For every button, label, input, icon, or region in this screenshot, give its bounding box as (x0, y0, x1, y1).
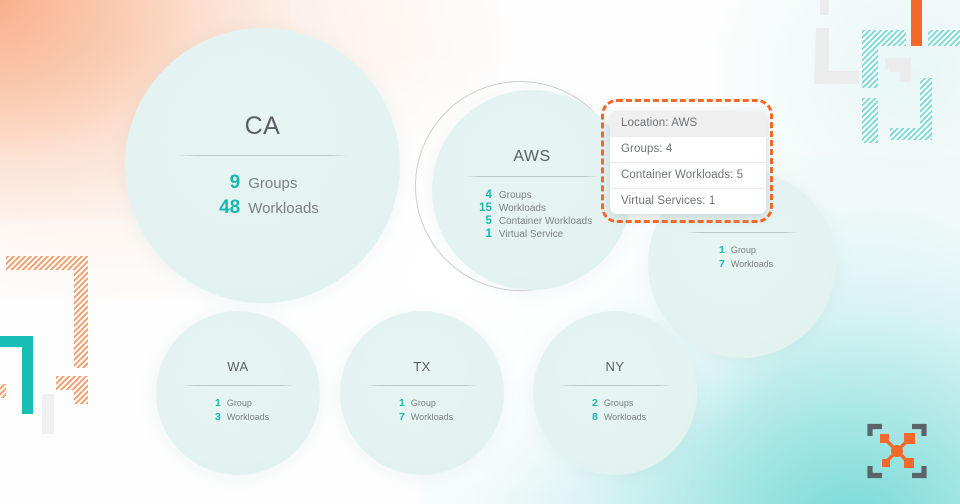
bubble-ny-divider (559, 385, 671, 386)
stat-value: 7 (391, 411, 405, 423)
stat-label: Groups (604, 398, 634, 408)
stat-value: 9 (206, 172, 240, 194)
stat-label: Workloads (411, 412, 453, 422)
bubble-tx-divider (366, 385, 478, 386)
bubble-tx-stats: 1 Group 7 Workloads (391, 397, 453, 423)
stat-label: Container Workloads (499, 216, 592, 227)
decor-bottom-left-grey-bracket (8, 388, 78, 446)
stat-label: Workloads (499, 203, 546, 214)
stat-value: 3 (207, 411, 221, 423)
bubble-aws-title: AWS (513, 148, 550, 166)
stat-label: Groups (499, 190, 532, 201)
stat-row: 5 Container Workloads (472, 215, 592, 227)
bubble-tx[interactable]: TX 1 Group 7 Workloads (340, 311, 504, 475)
stat-row: 8 Workloads (584, 411, 646, 423)
canvas: CA 9 Groups 48 Workloads 1 Group (0, 0, 960, 504)
network-frame-logo (866, 420, 928, 482)
stat-row: 1 Group (207, 397, 269, 409)
stat-row: 1 Group (391, 397, 453, 409)
stat-value: 4 (472, 189, 492, 201)
stat-row: 4 Groups (472, 189, 592, 201)
decor-bottom-left-brackets (0, 248, 110, 416)
stat-value: 48 (206, 197, 240, 219)
stat-value: 2 (584, 397, 598, 409)
stat-value: 1 (711, 244, 725, 256)
stat-row: 1 Virtual Service (472, 228, 592, 240)
stat-value: 1 (472, 228, 492, 240)
tooltip-row-groups: Groups: 4 (610, 137, 766, 163)
bubble-ny-title: NY (605, 359, 624, 374)
stat-row: 15 Workloads (472, 202, 592, 214)
tooltip-card: Location: AWS Groups: 4 Container Worklo… (610, 111, 766, 214)
bubble-wa[interactable]: WA 1 Group 3 Workloads (156, 311, 320, 475)
bubble-aws-stats: 4 Groups 15 Workloads 5 Container Worklo… (472, 189, 592, 240)
stat-label: Virtual Service (499, 229, 563, 240)
stat-label: Workloads (731, 259, 773, 269)
stat-label: Workloads (604, 412, 646, 422)
stat-label: Workloads (248, 200, 319, 217)
stat-value: 5 (472, 215, 492, 227)
bubble-ca-stats: 9 Groups 48 Workloads (206, 172, 319, 219)
tooltip-row-container-workloads: Container Workloads: 5 (610, 163, 766, 189)
bubble-wa-stats: 1 Group 3 Workloads (207, 397, 269, 423)
bubble-ny[interactable]: NY 2 Groups 8 Workloads (533, 311, 697, 475)
tooltip-row-virtual-services: Virtual Services: 1 (610, 189, 766, 214)
bubble-aws-divider (465, 176, 599, 177)
stat-row: 2 Groups (584, 397, 646, 409)
decor-top-right-lower-bracket (856, 78, 960, 153)
stat-row: 48 Workloads (206, 197, 319, 219)
stat-row: 7 Workloads (391, 411, 453, 423)
bubble-right-partial-divider (686, 232, 798, 233)
stat-label: Group (411, 398, 436, 408)
stat-value: 15 (472, 202, 492, 214)
stat-row: 7 Workloads (711, 258, 773, 270)
stat-value: 7 (711, 258, 725, 270)
stat-row: 9 Groups (206, 172, 319, 194)
bubble-ny-stats: 2 Groups 8 Workloads (584, 397, 646, 423)
stat-row: 3 Workloads (207, 411, 269, 423)
stat-label: Group (731, 245, 756, 255)
stat-label: Workloads (227, 412, 269, 422)
bubble-right-partial-stats: 1 Group 7 Workloads (711, 244, 773, 270)
stat-value: 8 (584, 411, 598, 423)
bubble-wa-divider (182, 385, 294, 386)
stat-label: Group (227, 398, 252, 408)
stat-value: 1 (391, 397, 405, 409)
stat-label: Groups (248, 175, 297, 192)
bubble-wa-title: WA (227, 359, 248, 374)
stat-row: 1 Group (711, 244, 773, 256)
tooltip-row-location: Location: AWS (610, 111, 766, 137)
bubble-ca-divider (177, 155, 349, 156)
bubble-ca[interactable]: CA 9 Groups 48 Workloads (125, 28, 400, 303)
bubble-tx-title: TX (413, 359, 431, 374)
decor-top-right-brackets (810, 0, 960, 143)
bubble-ca-title: CA (245, 112, 281, 141)
stat-value: 1 (207, 397, 221, 409)
